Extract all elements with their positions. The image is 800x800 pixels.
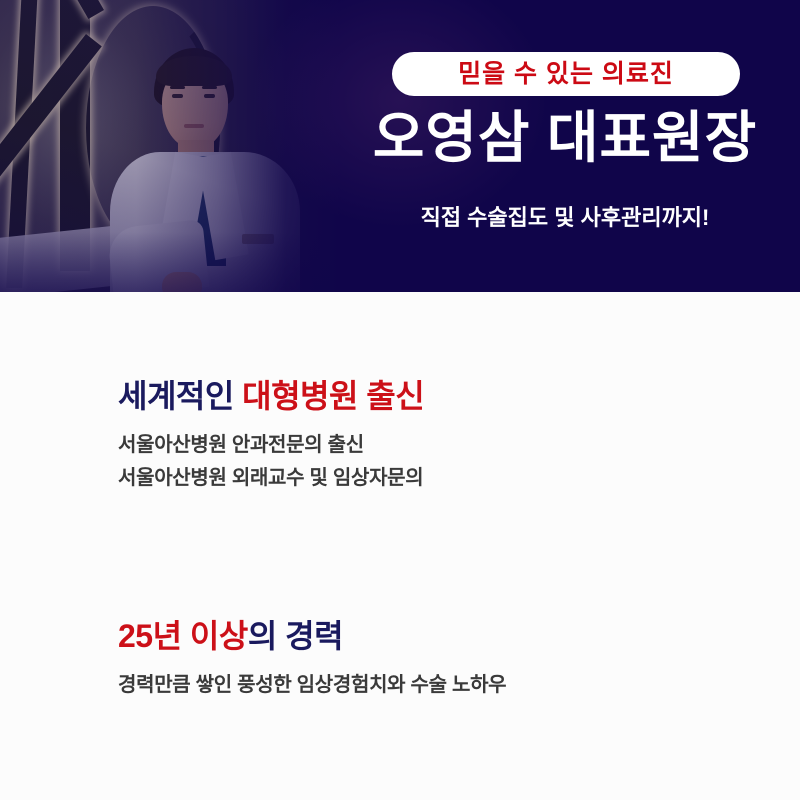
credential-section-experience: 25년 이상의 경력 경력만큼 쌓인 풍성한 임상경험치와 수술 노하우 (118, 618, 738, 702)
section-heading-hospital-part1: 세계적인 (118, 378, 242, 414)
section-heading-experience-part1: 25년 이상 (118, 618, 248, 654)
hero-banner: 믿을 수 있는 의료진 오영삼 대표원장 직접 수술집도 및 사후관리까지! (0, 0, 800, 292)
credential-line: 서울아산병원 안과전문의 출신 (118, 429, 738, 462)
doctor-name-title: 오영삼 대표원장 (330, 108, 800, 168)
hero-subtitle: 직접 수술집도 및 사후관리까지! (330, 200, 800, 232)
section-heading-hospital: 세계적인 대형병원 출신 (118, 378, 738, 415)
hero-text-block: 믿을 수 있는 의료진 오영삼 대표원장 직접 수술집도 및 사후관리까지! (330, 0, 800, 292)
credential-line: 서울아산병원 외래교수 및 임상자문의 (118, 462, 738, 495)
trust-badge: 믿을 수 있는 의료진 (392, 52, 740, 96)
section-heading-hospital-part2: 대형병원 출신 (242, 378, 424, 414)
credential-line: 경력만큼 쌓인 풍성한 임상경험치와 수술 노하우 (118, 669, 738, 702)
section-heading-experience: 25년 이상의 경력 (118, 618, 738, 655)
trust-badge-label: 믿을 수 있는 의료진 (458, 62, 674, 87)
credential-section-hospital: 세계적인 대형병원 출신 서울아산병원 안과전문의 출신 서울아산병원 외래교수… (118, 378, 738, 495)
promo-page: 믿을 수 있는 의료진 오영삼 대표원장 직접 수술집도 및 사후관리까지! 세… (0, 0, 800, 800)
photo-fade-bottom (0, 232, 340, 292)
section-heading-experience-part2: 의 경력 (248, 618, 343, 654)
